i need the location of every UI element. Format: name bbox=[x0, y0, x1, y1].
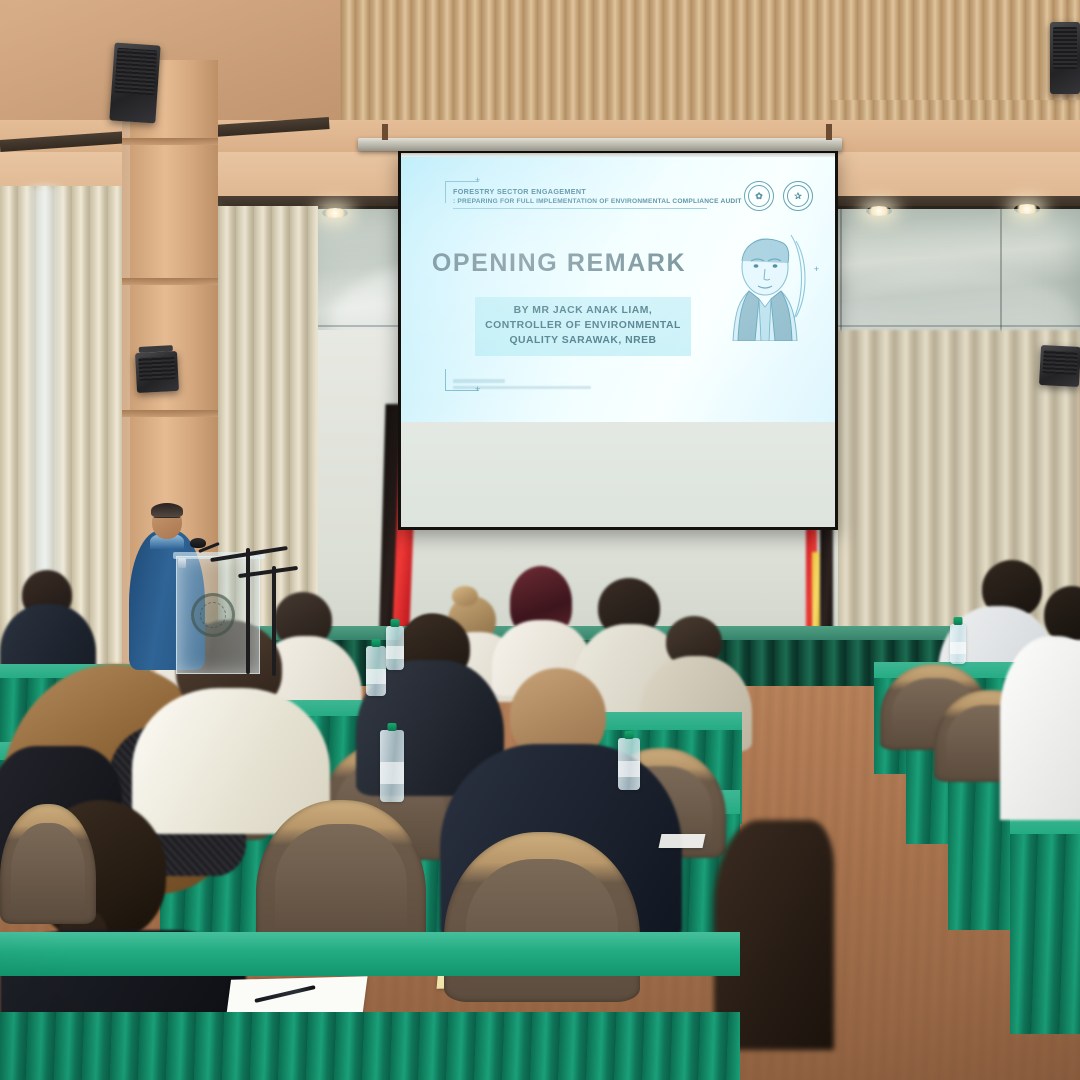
banquet-chair-foreground bbox=[0, 804, 96, 924]
banquet-table-drape-foreground bbox=[0, 1012, 740, 1080]
slide-subtitle-box: BY MR JACK ANAK LIAM, CONTROLLER OF ENVI… bbox=[475, 297, 691, 356]
slide-header: FORESTRY SECTOR ENGAGEMENT : PREPARING F… bbox=[453, 187, 723, 209]
sarawak-forestry-circular-logo: ✰ bbox=[783, 181, 813, 211]
projected-slide: + + + FORESTRY SECTOR ENGAGEMENT : PREPA… bbox=[401, 157, 835, 422]
speaker-portrait-illustration bbox=[725, 221, 807, 341]
note-paper bbox=[659, 834, 706, 848]
water-bottle bbox=[366, 646, 386, 696]
slide-footer-line-2 bbox=[453, 386, 591, 390]
water-bottle bbox=[386, 626, 404, 670]
wall-mounted-loudspeaker bbox=[135, 351, 179, 393]
nreb-logo-glyph: ✿ bbox=[748, 185, 770, 207]
banquet-table-drape bbox=[1010, 834, 1080, 1034]
microphone-stand-vertical bbox=[246, 548, 250, 674]
government-crest-emblem bbox=[191, 593, 235, 637]
forestry-logo-glyph: ✰ bbox=[787, 185, 809, 207]
water-bottle bbox=[950, 624, 966, 664]
banquet-table-top-foreground bbox=[0, 932, 740, 976]
slide-footer-text bbox=[453, 379, 591, 392]
slide-subtitle-line-3: QUALITY SARAWAK, NREB bbox=[481, 334, 685, 349]
recessed-downlight bbox=[1014, 204, 1040, 214]
slide-tick-top: + bbox=[475, 176, 480, 185]
presenter-badge bbox=[178, 558, 186, 568]
portrait-svg bbox=[725, 221, 807, 341]
wall-mounted-loudspeaker bbox=[1039, 345, 1080, 387]
slide-header-line-2: : PREPARING FOR FULL IMPLEMENTATION OF E… bbox=[453, 198, 707, 209]
water-bottle bbox=[380, 730, 404, 802]
slide-footer-line-1 bbox=[453, 379, 505, 383]
recessed-downlight bbox=[322, 208, 348, 218]
microphone-stand-vertical-2 bbox=[272, 566, 276, 676]
slide-subtitle-line-2: CONTROLLER OF ENVIRONMENTAL bbox=[481, 319, 685, 334]
roll-down-projection-screen: + + + FORESTRY SECTOR ENGAGEMENT : PREPA… bbox=[398, 150, 838, 530]
ribbed-ceiling-panel-right bbox=[830, 0, 1080, 100]
slide-logo-group: ✿ ✰ bbox=[744, 181, 813, 211]
wall-mounted-loudspeaker bbox=[1050, 22, 1080, 94]
conference-hall-photo: + + + FORESTRY SECTOR ENGAGEMENT : PREPA… bbox=[0, 0, 1080, 1080]
projection-screen-housing bbox=[358, 138, 842, 151]
presenter-eyeglasses bbox=[154, 517, 180, 523]
microphone-capsule bbox=[190, 538, 206, 548]
audience-hair-bun bbox=[452, 586, 478, 606]
water-bottle bbox=[618, 738, 640, 790]
slide-header-line-1: FORESTRY SECTOR ENGAGEMENT bbox=[453, 187, 723, 196]
banquet-chair-foreground bbox=[256, 800, 426, 950]
slide-subtitle-line-1: BY MR JACK ANAK LIAM, bbox=[481, 304, 685, 319]
presenter-hair bbox=[151, 503, 183, 518]
banquet-chair-foreground bbox=[444, 832, 640, 1002]
wall-mounted-loudspeaker bbox=[109, 42, 160, 123]
recessed-downlight bbox=[866, 206, 892, 216]
audience-body bbox=[1000, 640, 1080, 820]
nreb-circular-logo: ✿ bbox=[744, 181, 774, 211]
flag-black-right bbox=[820, 524, 833, 642]
